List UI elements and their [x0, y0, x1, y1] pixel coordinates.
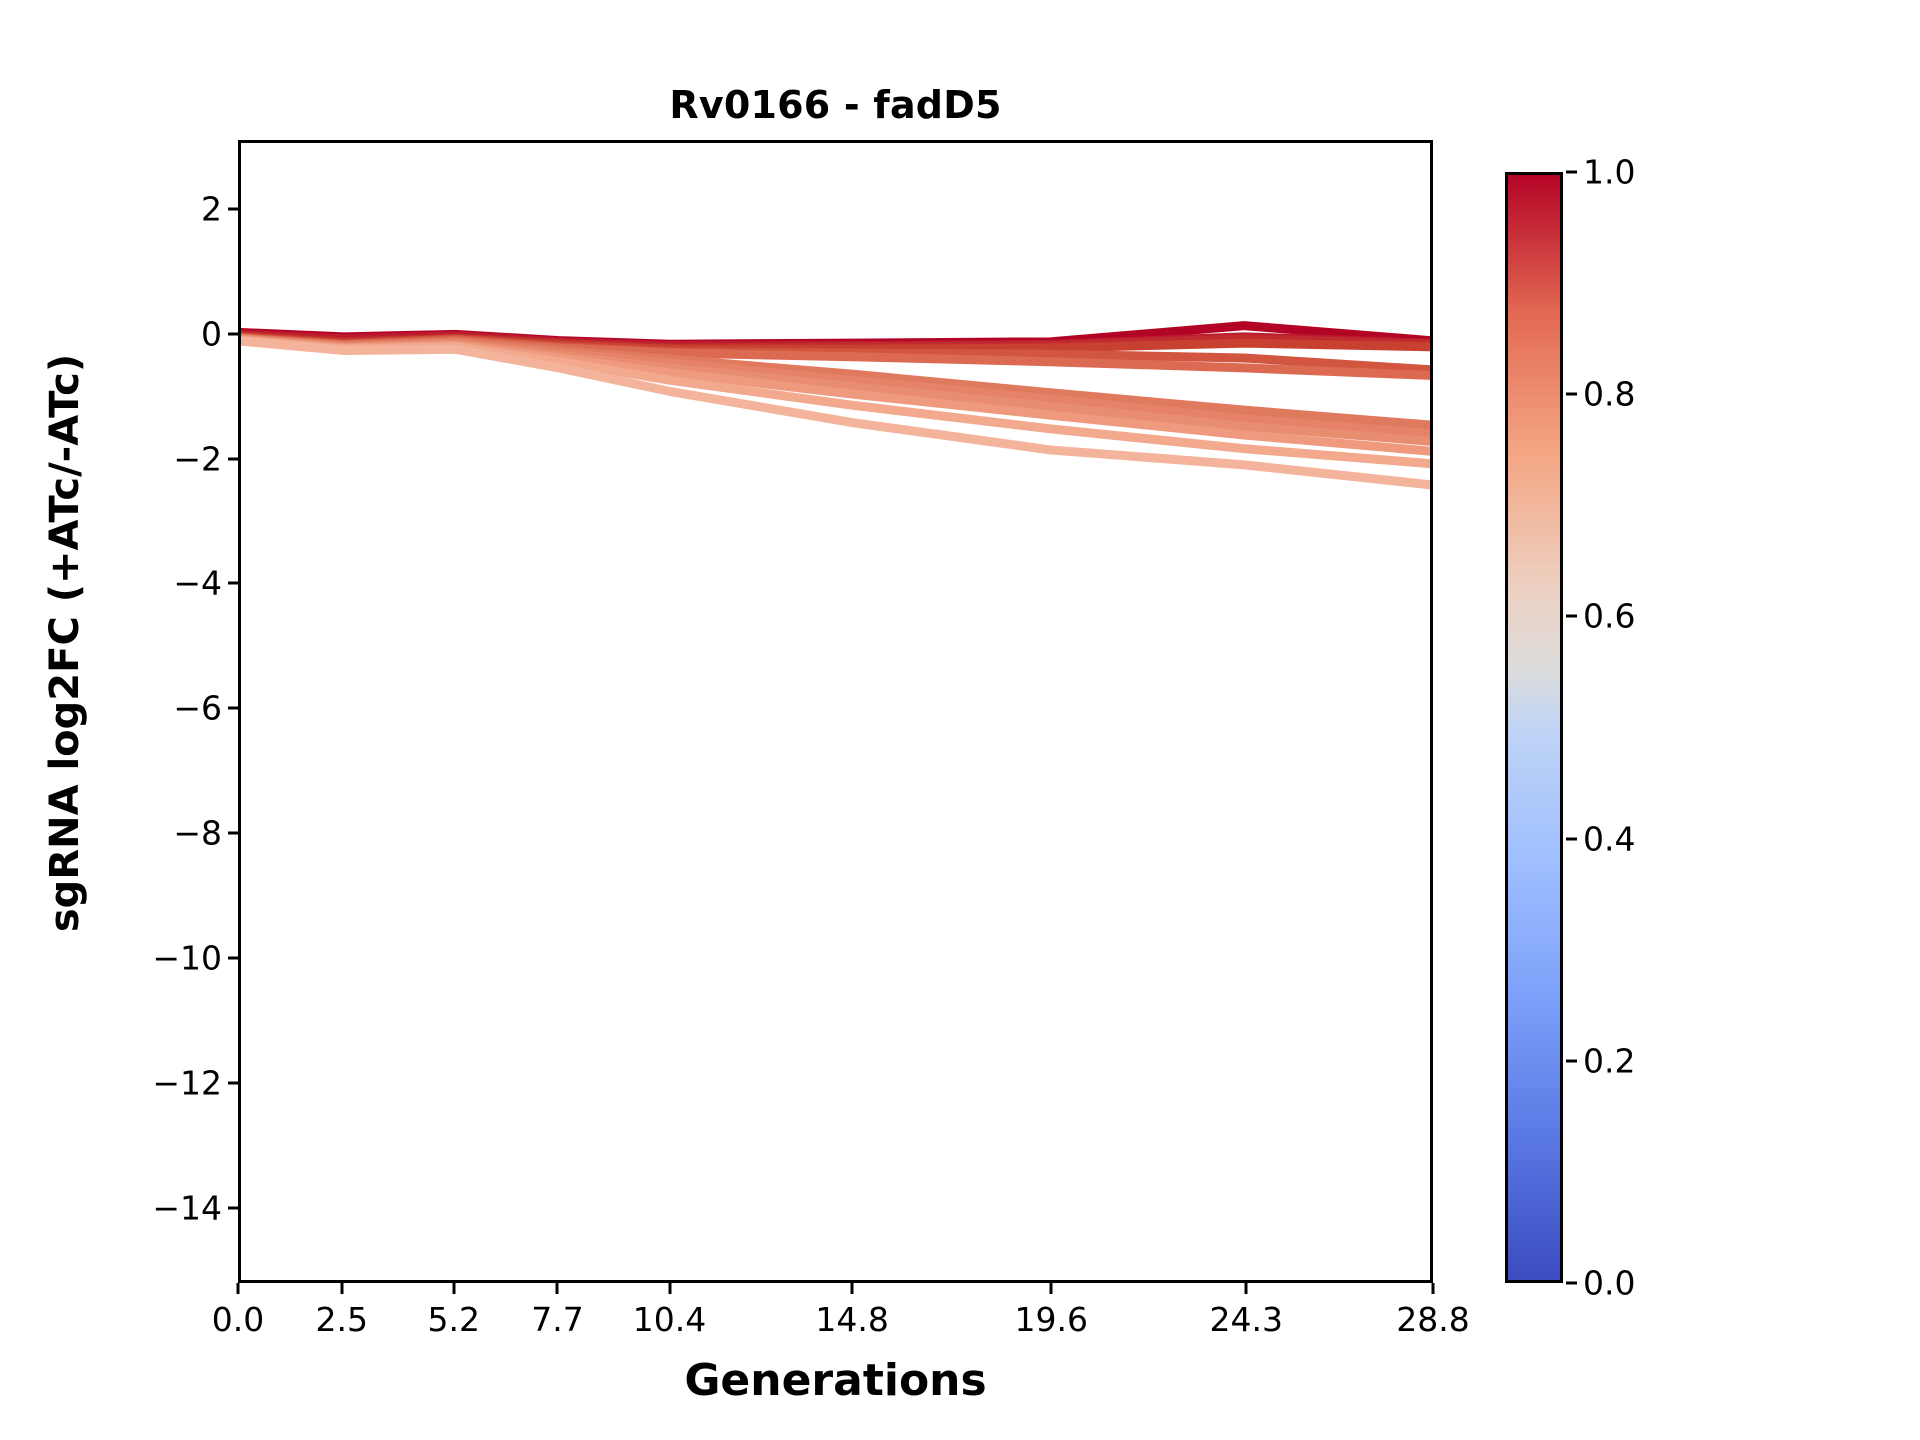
y-tick-mark — [228, 457, 239, 460]
x-tick-mark — [452, 1283, 455, 1294]
y-tick-mark — [228, 957, 239, 960]
x-tick-mark — [668, 1283, 671, 1294]
y-tick-mark — [228, 1207, 239, 1210]
x-tick-label: 5.2 — [428, 1300, 480, 1339]
x-tick-mark — [851, 1283, 854, 1294]
colorbar-tick-mark — [1566, 615, 1577, 618]
x-tick-label: 0.0 — [212, 1300, 264, 1339]
y-tick-mark — [228, 582, 239, 585]
plot-area — [238, 140, 1433, 1283]
colorbar-tick-mark — [1566, 171, 1577, 174]
colorbar-tick-mark — [1566, 393, 1577, 396]
x-tick-mark — [340, 1283, 343, 1294]
colorbar-tick-label: 0.6 — [1583, 597, 1635, 636]
y-tick-label: −4 — [173, 564, 222, 603]
y-tick-label: −2 — [173, 439, 222, 478]
colorbar — [1505, 172, 1563, 1283]
x-tick-label: 19.6 — [1015, 1300, 1088, 1339]
y-axis-label: sgRNA log2FC (+ATc/-ATc) — [42, 113, 88, 1173]
figure-canvas: Rv0166 - fadD5 sgRNA log2FC (+ATc/-ATc) … — [0, 0, 1920, 1440]
colorbar-tick-label: 0.4 — [1583, 819, 1635, 858]
x-tick-label: 10.4 — [633, 1300, 706, 1339]
x-tick-label: 2.5 — [315, 1300, 367, 1339]
colorbar-tick-mark — [1566, 1059, 1577, 1062]
x-tick-mark — [1432, 1283, 1435, 1294]
plot-svg — [241, 143, 1430, 1280]
x-axis-label: Generations — [238, 1355, 1433, 1406]
y-tick-label: 2 — [201, 189, 222, 228]
x-tick-label: 24.3 — [1210, 1300, 1283, 1339]
x-tick-label: 14.8 — [815, 1300, 888, 1339]
colorbar-gradient — [1508, 175, 1560, 1280]
colorbar-tick-label: 0.0 — [1583, 1264, 1635, 1303]
x-tick-mark — [556, 1283, 559, 1294]
x-tick-label: 7.7 — [531, 1300, 583, 1339]
y-tick-mark — [228, 332, 239, 335]
y-tick-label: 0 — [201, 314, 222, 353]
colorbar-tick-label: 1.0 — [1583, 153, 1635, 192]
colorbar-tick-mark — [1566, 1282, 1577, 1285]
x-tick-mark — [1245, 1283, 1248, 1294]
y-tick-mark — [228, 207, 239, 210]
x-tick-mark — [1050, 1283, 1053, 1294]
colorbar-tick-mark — [1566, 837, 1577, 840]
colorbar-tick-label: 0.2 — [1583, 1041, 1635, 1080]
y-tick-label: −14 — [152, 1189, 222, 1228]
colorbar-tick-label: 0.8 — [1583, 375, 1635, 414]
y-tick-mark — [228, 832, 239, 835]
y-tick-label: −10 — [152, 939, 222, 978]
y-tick-label: −8 — [173, 814, 222, 853]
x-tick-label: 28.8 — [1396, 1300, 1469, 1339]
page-title: Rv0166 - fadD5 — [238, 80, 1433, 130]
y-tick-label: −12 — [152, 1064, 222, 1103]
y-tick-mark — [228, 1082, 239, 1085]
y-tick-label: −6 — [173, 689, 222, 728]
y-tick-mark — [228, 707, 239, 710]
x-tick-mark — [237, 1283, 240, 1294]
